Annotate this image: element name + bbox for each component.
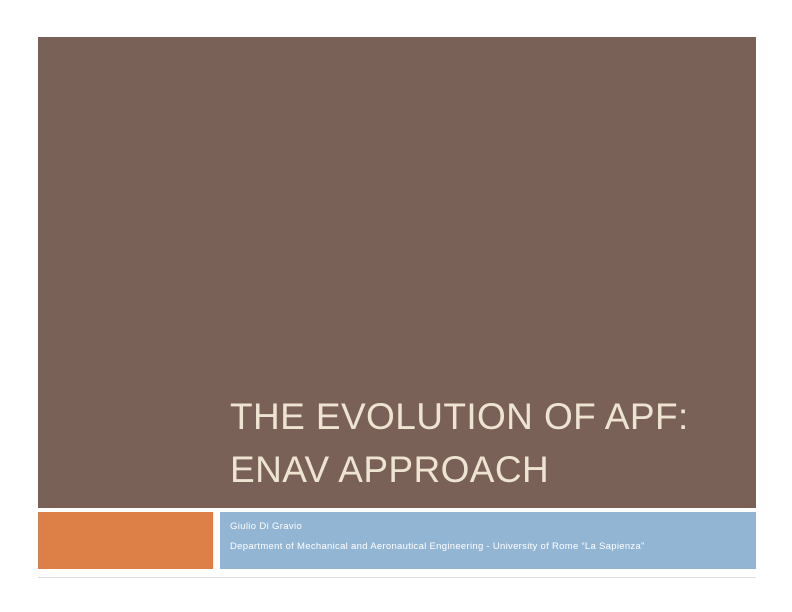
author-name: Giulio Di Gravio — [230, 520, 750, 533]
subtitle-panel: Giulio Di Gravio Department of Mechanica… — [220, 512, 756, 569]
subtitle-text-group: Giulio Di Gravio Department of Mechanica… — [230, 520, 750, 553]
orange-accent-block — [38, 512, 213, 569]
bottom-divider-rule — [38, 577, 756, 578]
presentation-slide: THE EVOLUTION OF APF: ENAV APPROACH Giul… — [0, 0, 792, 612]
title-panel: THE EVOLUTION OF APF: ENAV APPROACH — [38, 37, 756, 508]
title-line-2: ENAV APPROACH — [230, 443, 730, 496]
title-line-1: THE EVOLUTION OF APF: — [230, 390, 730, 443]
accent-row: Giulio Di Gravio Department of Mechanica… — [38, 512, 756, 569]
author-affiliation: Department of Mechanical and Aeronautica… — [230, 540, 750, 553]
slide-title: THE EVOLUTION OF APF: ENAV APPROACH — [230, 390, 730, 496]
